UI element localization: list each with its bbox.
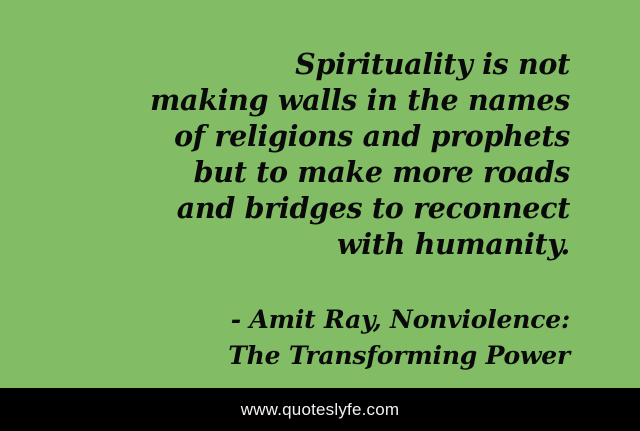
footer-bar: www.quoteslyfe.com	[0, 388, 640, 431]
quote-text: Spirituality is not making walls in the …	[0, 46, 570, 262]
quote-content: Spirituality is not making walls in the …	[0, 46, 570, 374]
quote-card: Spirituality is not making walls in the …	[0, 0, 640, 431]
quote-attribution: - Amit Ray, Nonviolence: The Transformin…	[0, 262, 570, 374]
footer-website-url: www.quoteslyfe.com	[241, 401, 400, 418]
